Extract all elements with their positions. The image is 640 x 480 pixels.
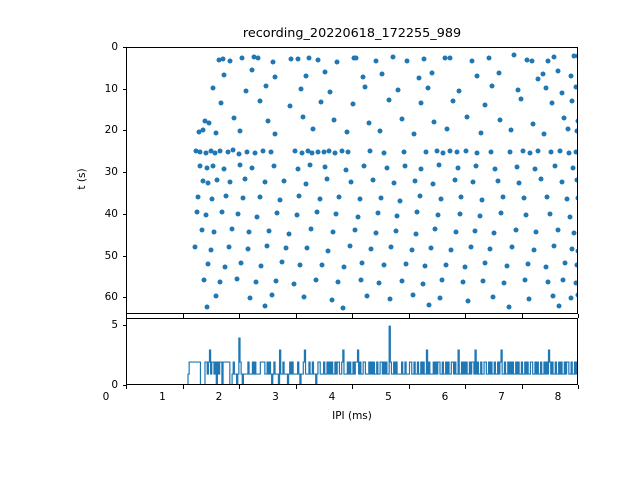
scatter-point	[567, 214, 572, 219]
scatter-point	[522, 277, 527, 282]
scatter-point	[250, 165, 255, 170]
scatter-point	[526, 262, 531, 267]
scatter-point	[458, 211, 463, 216]
scatter-point	[418, 166, 423, 171]
scatter-point	[443, 262, 448, 267]
scatter-point	[380, 72, 385, 77]
scatter-point	[548, 150, 553, 155]
scatter-point	[473, 228, 478, 233]
scatter-y-tick-mark	[123, 297, 127, 298]
scatter-point	[422, 56, 427, 61]
scatter-point	[226, 244, 231, 249]
scatter-point	[196, 194, 201, 199]
scatter-point	[402, 164, 407, 169]
scatter-point	[277, 198, 282, 203]
scatter-point	[553, 163, 558, 168]
scatter-point	[504, 263, 509, 268]
scatter-point	[534, 229, 539, 234]
scatter-point	[393, 229, 398, 234]
scatter-point	[487, 247, 492, 252]
scatter-y-axis-label: t (s)	[76, 89, 88, 269]
scatter-point	[454, 150, 459, 155]
scatter-point	[468, 244, 473, 249]
scatter-point	[374, 58, 379, 63]
scatter-point	[426, 302, 431, 307]
histogram-x-tick-mark	[578, 385, 579, 389]
scatter-y-tick-mark	[123, 89, 127, 90]
scatter-point	[441, 151, 446, 156]
scatter-point	[430, 71, 435, 76]
scatter-point	[546, 279, 551, 284]
scatter-y-tick-mark	[123, 172, 127, 173]
scatter-point	[400, 116, 405, 121]
scatter-point	[279, 260, 284, 265]
scatter-point	[549, 101, 554, 106]
scatter-point	[521, 196, 526, 201]
scatter-point	[296, 57, 301, 62]
scatter-point	[221, 56, 226, 61]
scatter-point	[501, 194, 506, 199]
scatter-point	[560, 179, 565, 184]
scatter-point	[387, 97, 392, 102]
scatter-point	[329, 297, 334, 302]
scatter-point	[222, 166, 227, 171]
scatter-point	[328, 90, 333, 95]
scatter-point	[560, 91, 565, 96]
scatter-point	[509, 128, 514, 133]
scatter-y-tick-label: 40	[82, 208, 118, 220]
scatter-point	[293, 149, 298, 154]
scatter-point	[361, 74, 366, 79]
histogram-x-tick-mark	[522, 385, 523, 389]
scatter-point	[419, 100, 424, 105]
scatter-point	[502, 281, 507, 286]
scatter-point	[214, 131, 219, 136]
scatter-point	[271, 164, 276, 169]
scatter-y-tick-mark	[123, 214, 127, 215]
scatter-point	[354, 56, 359, 61]
scatter-point	[390, 55, 395, 60]
scatter-point	[424, 150, 429, 155]
scatter-point	[235, 212, 240, 217]
scatter-x-tick-mark	[578, 314, 579, 318]
scatter-point	[529, 58, 534, 63]
scatter-point	[294, 213, 299, 218]
scatter-point	[405, 59, 410, 64]
scatter-point	[517, 181, 522, 186]
scatter-point	[544, 264, 549, 269]
scatter-point	[254, 214, 259, 219]
scatter-point	[348, 179, 353, 184]
scatter-point	[381, 263, 386, 268]
scatter-point	[258, 195, 263, 200]
scatter-point	[551, 293, 556, 298]
scatter-point	[252, 150, 257, 155]
scatter-point	[322, 165, 327, 170]
scatter-point	[340, 306, 345, 311]
scatter-point	[304, 245, 309, 250]
scatter-point	[382, 150, 387, 155]
scatter-point	[369, 246, 374, 251]
scatter-point	[210, 85, 215, 90]
scatter-point	[222, 72, 227, 77]
scatter-point	[282, 178, 287, 183]
scatter-point	[357, 197, 362, 202]
scatter-point	[433, 227, 438, 232]
scatter-point	[367, 149, 372, 154]
histogram-y-tick-label: 0	[82, 379, 118, 391]
scatter-point	[302, 295, 307, 300]
scatter-point	[331, 117, 336, 122]
histogram-x-tick-mark	[239, 385, 240, 389]
scatter-point	[565, 126, 570, 131]
scatter-point	[326, 248, 331, 253]
scatter-point	[489, 84, 494, 89]
scatter-point	[301, 114, 306, 119]
scatter-y-tick-label: 60	[82, 291, 118, 303]
scatter-point	[212, 230, 217, 235]
scatter-point	[477, 214, 482, 219]
scatter-point	[315, 149, 320, 154]
scatter-y-tick-mark	[123, 47, 127, 48]
scatter-point	[218, 101, 223, 106]
scatter-point	[351, 102, 356, 107]
scatter-point	[384, 166, 389, 171]
scatter-point	[396, 88, 401, 93]
scatter-point	[311, 126, 316, 131]
scatter-point	[464, 149, 469, 154]
scatter-point	[362, 163, 367, 168]
scatter-point	[435, 212, 440, 217]
scatter-point	[375, 211, 380, 216]
scatter-point	[478, 130, 483, 135]
histogram-x-tick-label: 8	[538, 391, 578, 403]
scatter-point	[322, 70, 327, 75]
scatter-point	[239, 261, 244, 266]
histogram-x-axis-label: IPI (ms)	[126, 410, 578, 422]
scatter-point	[314, 209, 319, 214]
scatter-point	[574, 178, 578, 183]
scatter-point	[201, 277, 206, 282]
scatter-point	[321, 150, 326, 155]
histogram-y-tick-mark	[123, 325, 127, 326]
scatter-point	[431, 182, 436, 187]
scatter-point	[345, 130, 350, 135]
scatter-point	[561, 278, 566, 283]
scatter-point	[409, 247, 414, 252]
scatter-point	[543, 86, 548, 91]
scatter-point	[474, 164, 479, 169]
scatter-point	[266, 119, 271, 124]
scatter-point	[508, 150, 513, 155]
scatter-point	[204, 212, 209, 217]
scatter-point	[313, 277, 318, 282]
scatter-point	[449, 248, 454, 253]
histogram-x-tick-label: 5	[369, 391, 409, 403]
scatter-point	[273, 131, 278, 136]
scatter-point	[574, 85, 578, 90]
scatter-point	[395, 213, 400, 218]
scatter-point	[300, 151, 305, 156]
scatter-point	[556, 304, 561, 309]
scatter-point	[206, 181, 211, 186]
histogram-x-tick-mark	[183, 385, 184, 389]
scatter-point	[493, 166, 498, 171]
scatter-point	[538, 177, 543, 182]
scatter-point	[438, 295, 443, 300]
scatter-point	[572, 230, 577, 235]
scatter-point	[491, 294, 496, 299]
scatter-point	[555, 228, 560, 233]
scatter-point	[217, 149, 222, 154]
scatter-point	[519, 96, 524, 101]
scatter-point	[295, 166, 300, 171]
scatter-point	[288, 56, 293, 61]
scatter-point	[451, 99, 456, 104]
scatter-point	[310, 150, 315, 155]
histogram-x-tick-label: 6	[425, 391, 465, 403]
scatter-point	[575, 54, 578, 59]
scatter-point	[398, 198, 403, 203]
scatter-point	[483, 261, 488, 266]
scatter-point	[336, 280, 341, 285]
scatter-point	[573, 280, 578, 285]
scatter-point	[353, 228, 358, 233]
scatter-point	[200, 179, 205, 184]
scatter-point	[575, 292, 578, 297]
scatter-point	[244, 149, 249, 154]
scatter-x-tick-mark	[409, 314, 410, 318]
scatter-point	[569, 74, 574, 79]
histogram-x-tick-mark	[296, 385, 297, 389]
scatter-point	[206, 262, 211, 267]
scatter-point	[284, 246, 289, 251]
scatter-point	[296, 194, 301, 199]
scatter-point	[260, 148, 265, 153]
scatter-point	[360, 260, 365, 265]
scatter-point	[303, 73, 308, 78]
scatter-point	[513, 227, 518, 232]
scatter-point	[536, 149, 541, 154]
scatter-point	[527, 297, 532, 302]
scatter-point	[378, 129, 383, 134]
scatter-point	[562, 115, 567, 120]
histogram-x-tick-label: 0	[86, 391, 126, 403]
scatter-point	[391, 180, 396, 185]
scatter-point	[263, 83, 268, 88]
scatter-point	[412, 132, 417, 137]
scatter-point	[268, 150, 273, 155]
scatter-point	[241, 196, 246, 201]
scatter-point	[470, 180, 475, 185]
histogram-x-tick-label: 1	[143, 391, 183, 403]
scatter-point	[492, 231, 497, 236]
scatter-point	[242, 177, 247, 182]
matplotlib-figure: recording_20220618_172255_989 t (s) 0102…	[0, 0, 640, 480]
scatter-point	[555, 68, 560, 73]
scatter-point	[208, 247, 213, 252]
scatter-point	[339, 149, 344, 154]
scatter-y-tick-label: 20	[82, 124, 118, 136]
scatter-point	[566, 150, 571, 155]
scatter-point	[335, 59, 340, 64]
scatter-point	[219, 209, 224, 214]
scatter-point	[292, 281, 297, 286]
scatter-point	[573, 149, 578, 154]
scatter-point	[499, 210, 504, 215]
scatter-point	[439, 197, 444, 202]
scatter-x-tick-mark	[239, 314, 240, 318]
scatter-point	[515, 87, 520, 92]
scatter-point	[243, 88, 248, 93]
scatter-point	[563, 260, 568, 265]
histogram-trace	[127, 319, 578, 385]
scatter-point	[512, 53, 517, 58]
scatter-point	[327, 148, 332, 153]
scatter-point	[236, 151, 241, 156]
scatter-point	[540, 71, 545, 76]
scatter-point	[570, 98, 575, 103]
scatter-point	[366, 121, 371, 126]
scatter-point	[364, 294, 369, 299]
scatter-point	[523, 213, 528, 218]
scatter-point	[192, 245, 197, 250]
scatter-point	[299, 86, 304, 91]
scatter-point	[341, 265, 346, 270]
scatter-point	[440, 277, 445, 282]
scatter-point	[255, 55, 260, 60]
scatter-point	[240, 56, 245, 61]
scatter-point	[325, 177, 330, 182]
scatter-point	[337, 194, 342, 199]
histogram-x-tick-mark	[126, 385, 127, 389]
scatter-point	[205, 166, 210, 171]
scatter-point	[571, 166, 576, 171]
scatter-point	[344, 167, 349, 172]
scatter-point	[269, 292, 274, 297]
scatter-point	[223, 264, 228, 269]
scatter-point	[530, 121, 535, 126]
scatter-point	[564, 197, 569, 202]
scatter-point	[506, 304, 511, 309]
histogram-x-tick-mark	[409, 385, 410, 389]
scatter-point	[479, 197, 484, 202]
scatter-point	[259, 263, 264, 268]
scatter-x-tick-mark	[352, 314, 353, 318]
scatter-point	[575, 262, 578, 267]
scatter-y-tick-label: 50	[82, 250, 118, 262]
scatter-plot-axes	[126, 47, 578, 314]
scatter-point	[434, 148, 439, 153]
scatter-point	[417, 194, 422, 199]
scatter-point	[247, 229, 252, 234]
scatter-point	[201, 127, 206, 132]
scatter-point	[238, 163, 243, 168]
scatter-point	[273, 75, 278, 80]
scatter-y-tick-label: 10	[82, 83, 118, 95]
scatter-point	[249, 68, 254, 73]
scatter-point	[225, 150, 230, 155]
scatter-point	[309, 227, 314, 232]
scatter-x-tick-mark	[522, 314, 523, 318]
scatter-point	[286, 231, 291, 236]
scatter-point	[465, 115, 470, 120]
scatter-point	[546, 59, 551, 64]
scatter-y-tick-mark	[123, 130, 127, 131]
scatter-point	[460, 280, 465, 285]
scatter-point	[497, 118, 502, 123]
scatter-point	[557, 149, 562, 154]
scatter-point	[470, 58, 475, 63]
scatter-point	[428, 245, 433, 250]
scatter-y-tick-label: 30	[82, 166, 118, 178]
scatter-point	[257, 98, 262, 103]
scatter-point	[205, 305, 210, 310]
scatter-point	[532, 167, 537, 172]
scatter-point	[495, 178, 500, 183]
scatter-point	[574, 129, 578, 134]
scatter-point	[576, 249, 578, 254]
scatter-point	[535, 76, 540, 81]
scatter-point	[453, 230, 458, 235]
scatter-point	[520, 148, 525, 153]
scatter-point	[496, 70, 501, 75]
scatter-point	[379, 195, 384, 200]
scatter-point	[224, 193, 229, 198]
scatter-point	[575, 195, 578, 200]
page-title: recording_20220618_172255_989	[126, 26, 578, 41]
scatter-point	[287, 103, 292, 108]
scatter-point	[416, 76, 421, 81]
scatter-point	[456, 165, 461, 170]
scatter-point	[376, 280, 381, 285]
scatter-point	[480, 278, 485, 283]
histogram-y-tick-label: 5	[82, 319, 118, 331]
histogram-x-tick-mark	[465, 385, 466, 389]
scatter-point	[425, 86, 430, 91]
scatter-point	[306, 56, 311, 61]
histogram-x-tick-label: 3	[256, 391, 296, 403]
scatter-point	[462, 265, 467, 270]
scatter-point	[267, 228, 272, 233]
scatter-point	[355, 214, 360, 219]
scatter-point	[198, 149, 203, 154]
scatter-point	[466, 298, 471, 303]
scatter-point	[262, 303, 267, 308]
scatter-point	[488, 149, 493, 154]
scatter-point	[230, 227, 235, 232]
scatter-point	[318, 196, 323, 201]
scatter-point	[401, 149, 406, 154]
scatter-point	[238, 128, 243, 133]
scatter-point	[388, 296, 393, 301]
scatter-point	[552, 244, 557, 249]
scatter-point	[199, 227, 204, 232]
scatter-point	[448, 56, 453, 61]
scatter-point	[198, 163, 203, 168]
scatter-point	[248, 296, 253, 301]
scatter-point	[510, 245, 515, 250]
scatter-point	[275, 210, 280, 215]
scatter-point	[315, 58, 320, 63]
scatter-point	[475, 73, 480, 78]
scatter-point	[270, 60, 275, 65]
scatter-point	[415, 210, 420, 215]
scatter-point	[227, 180, 232, 185]
scatter-point	[363, 84, 368, 89]
scatter-point	[231, 148, 236, 153]
scatter-point	[245, 247, 250, 252]
